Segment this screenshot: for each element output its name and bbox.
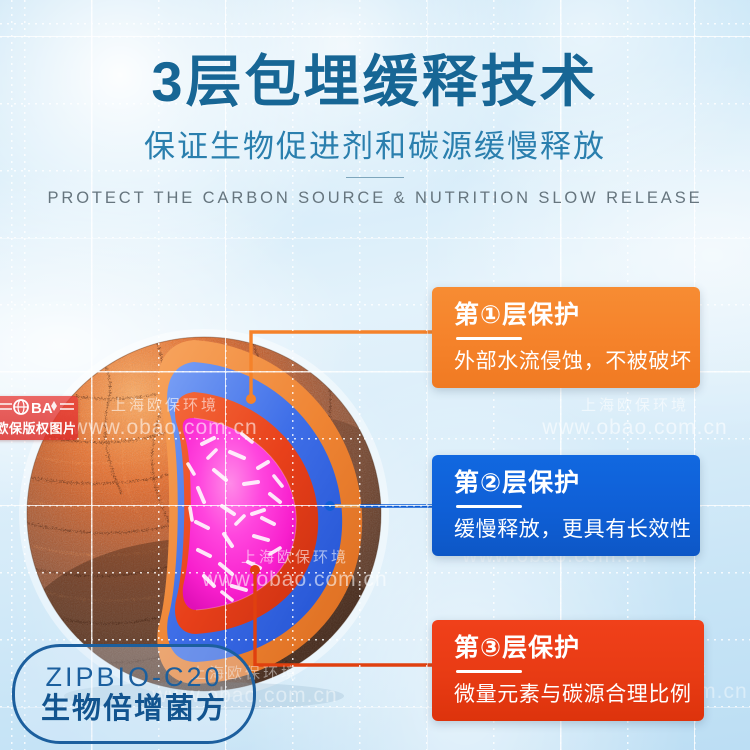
- svg-text:BA: BA: [31, 400, 53, 417]
- header-block: 3层包埋缓释技术 保证生物促进剂和碳源缓慢释放 PROTECT THE CARB…: [0, 0, 750, 208]
- globe-ba-logo-icon: BA: [0, 396, 78, 418]
- watermark-url: www.obao.com.cn: [510, 415, 750, 440]
- copyright-stamp: BA 欧保版权图片: [0, 396, 78, 440]
- callout-description: 缓慢释放，更具有长效性: [454, 517, 700, 542]
- watermark-right-top: 上海欧保环境 www.obao.com.cn: [510, 396, 750, 440]
- callout-divider: [456, 670, 522, 673]
- callout-description: 微量元素与碳源合理比例: [454, 682, 704, 707]
- product-name: 生物倍增菌方: [41, 693, 227, 726]
- callout-title: 第③层保护: [454, 634, 704, 663]
- infographic-canvas: 上海欧保环境 www.obao.com.cn 上海欧保环境 www.obao.c…: [0, 0, 750, 750]
- page-subtitle-english: PROTECT THE CARBON SOURCE & NUTRITION SL…: [0, 188, 750, 208]
- watermark-company: 上海欧保环境: [510, 396, 750, 415]
- product-badge[interactable]: ZIPBIO-C20 生物倍增菌方: [12, 644, 256, 744]
- callout-box-layer-3[interactable]: 第③层保护 微量元素与碳源合理比例: [432, 620, 704, 721]
- page-title: 3层包埋缓释技术: [0, 52, 750, 112]
- callout-description: 外部水流侵蚀，不被破坏: [454, 349, 700, 374]
- callout-title: 第②层保护: [454, 469, 700, 498]
- callout-divider: [456, 337, 522, 340]
- callout-box-layer-2[interactable]: 第②层保护 缓慢释放，更具有长效性: [432, 455, 700, 556]
- callout-divider: [456, 505, 522, 508]
- product-code: ZIPBIO-C20: [45, 662, 222, 692]
- title-divider: [346, 177, 404, 178]
- stamp-text: 欧保版权图片: [0, 418, 78, 440]
- callout-title: 第①层保护: [454, 301, 700, 330]
- stamp-logo-row: BA: [0, 396, 78, 418]
- page-subtitle: 保证生物促进剂和碳源缓慢释放: [0, 130, 750, 164]
- callout-box-layer-1[interactable]: 第①层保护 外部水流侵蚀，不被破坏: [432, 287, 700, 388]
